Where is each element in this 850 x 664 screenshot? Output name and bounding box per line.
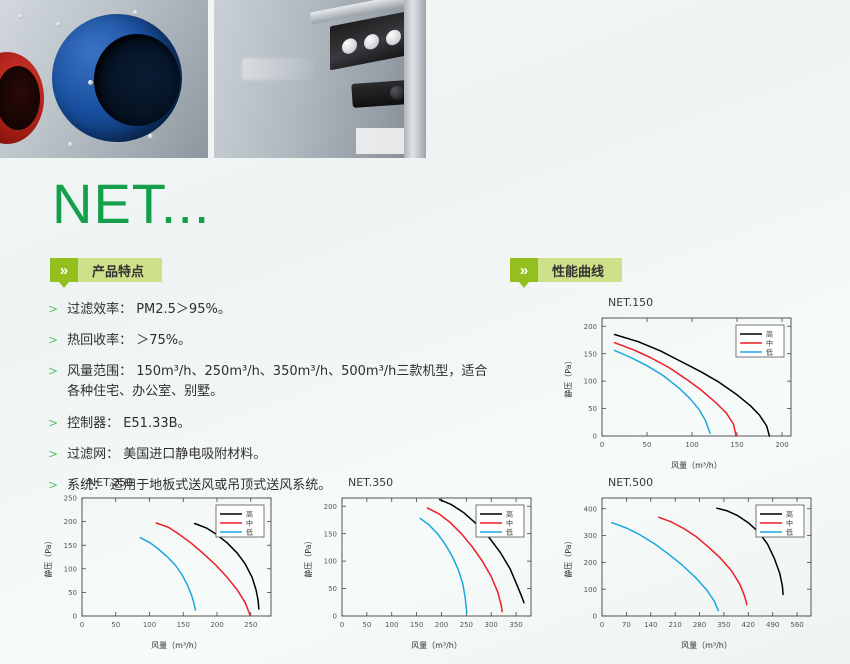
y-tick-label: 100 — [64, 565, 77, 573]
x-tick-label: 350 — [717, 621, 730, 629]
double-chevron-icon: » — [510, 258, 538, 282]
feature-item: >热回收率： ＞75%。 — [48, 331, 488, 351]
bullet-arrow-icon: > — [48, 331, 58, 350]
section-header-features-label: 产品特点 — [78, 258, 162, 282]
feature-item-text: 过滤效率： PM2.5＞95%。 — [67, 300, 231, 320]
y-tick-label: 150 — [64, 542, 77, 550]
x-tick-label: 210 — [668, 621, 681, 629]
x-tick-label: 150 — [410, 621, 423, 629]
y-tick-label: 100 — [324, 558, 337, 566]
y-tick-label: 300 — [584, 532, 597, 540]
x-axis-label: 风量（m³/h） — [151, 641, 202, 650]
chart-net-250: NET.250050100150200250050100150200250风量（… — [40, 472, 285, 652]
y-tick-label: 50 — [68, 589, 77, 597]
x-tick-label: 560 — [790, 621, 803, 629]
section-header-curves: » 性能曲线 — [510, 258, 622, 282]
section-header-curves-label: 性能曲线 — [538, 258, 622, 282]
x-tick-label: 100 — [685, 441, 698, 449]
chart-title: NET.250 — [88, 476, 133, 489]
feature-item: >过滤网： 美国进口静电吸附材料。 — [48, 445, 488, 465]
chart-net-150: NET.150050100150200050100150200风量（m³/h）静… — [560, 292, 805, 472]
y-axis-label: 静压（Pa） — [563, 536, 573, 577]
y-tick-label: 200 — [584, 323, 597, 331]
y-tick-label: 0 — [593, 613, 597, 621]
feature-item: >控制器： E51.33B。 — [48, 414, 488, 434]
y-axis-label: 静压（Pa） — [303, 536, 313, 577]
legend-label: 中 — [766, 339, 773, 348]
y-axis-label: 静压（Pa） — [43, 536, 53, 577]
legend-label: 中 — [246, 519, 253, 528]
x-axis-label: 风量（m³/h） — [681, 641, 732, 650]
x-tick-label: 0 — [600, 621, 604, 629]
legend-label: 低 — [246, 528, 253, 537]
bullet-arrow-icon: > — [48, 445, 58, 464]
x-tick-label: 50 — [643, 441, 652, 449]
y-tick-label: 100 — [584, 586, 597, 594]
chart-title: NET.500 — [608, 476, 653, 489]
y-tick-label: 400 — [584, 505, 597, 513]
y-axis-label: 静压（Pa） — [563, 356, 573, 397]
x-tick-label: 50 — [111, 621, 120, 629]
chart-title: NET.150 — [608, 296, 653, 309]
bullet-arrow-icon: > — [48, 300, 58, 319]
section-header-features: » 产品特点 — [50, 258, 162, 282]
page-title: NET... — [52, 176, 210, 232]
x-tick-label: 70 — [622, 621, 631, 629]
y-tick-label: 250 — [64, 495, 77, 503]
bullet-arrow-icon: > — [48, 362, 58, 381]
x-tick-label: 420 — [742, 621, 755, 629]
y-tick-label: 50 — [588, 405, 597, 413]
x-tick-label: 100 — [143, 621, 156, 629]
x-tick-label: 200 — [210, 621, 223, 629]
legend-label: 低 — [506, 528, 513, 537]
control-panel-photo — [214, 0, 426, 158]
y-tick-label: 200 — [584, 559, 597, 567]
y-tick-label: 150 — [584, 350, 597, 358]
x-tick-label: 150 — [730, 441, 743, 449]
y-tick-label: 150 — [324, 530, 337, 538]
series-line-low — [612, 523, 719, 611]
x-tick-label: 200 — [775, 441, 788, 449]
series-line-low — [615, 350, 710, 433]
legend-label: 高 — [506, 510, 513, 519]
bullet-arrow-icon: > — [48, 414, 58, 433]
x-tick-label: 200 — [435, 621, 448, 629]
feature-item-text: 热回收率： ＞75%。 — [67, 331, 191, 351]
series-line-low — [140, 538, 195, 610]
duct-connections-photo — [0, 0, 208, 158]
legend-label: 高 — [246, 510, 253, 519]
y-tick-label: 200 — [64, 518, 77, 526]
legend-label: 中 — [506, 519, 513, 528]
feature-item-text: 过滤网： 美国进口静电吸附材料。 — [67, 445, 266, 465]
x-tick-label: 350 — [509, 621, 522, 629]
x-tick-label: 150 — [177, 621, 190, 629]
y-tick-label: 100 — [584, 378, 597, 386]
y-tick-label: 0 — [73, 613, 77, 621]
x-tick-label: 0 — [340, 621, 344, 629]
legend-label: 低 — [766, 348, 773, 357]
legend-label: 中 — [786, 519, 793, 528]
y-tick-label: 0 — [593, 433, 597, 441]
x-tick-label: 250 — [244, 621, 257, 629]
feature-item-text: 风量范围： 150m³/h、250m³/h、350m³/h、500m³/h三款机… — [67, 362, 488, 402]
series-line-mid — [659, 517, 747, 604]
y-tick-label: 200 — [324, 503, 337, 511]
x-axis-label: 风量（m³/h） — [671, 461, 722, 470]
x-tick-label: 100 — [385, 621, 398, 629]
chart-net-350: NET.350050100150200250300350050100150200… — [300, 472, 545, 652]
x-tick-label: 250 — [460, 621, 473, 629]
y-tick-label: 0 — [333, 613, 337, 621]
x-tick-label: 0 — [80, 621, 84, 629]
series-line-mid — [615, 343, 737, 436]
chart-net-500: NET.500070140210280350420490560010020030… — [560, 472, 825, 652]
legend-label: 低 — [786, 528, 793, 537]
legend-label: 高 — [786, 510, 793, 519]
double-chevron-icon: » — [50, 258, 78, 282]
product-photo-strip — [0, 0, 426, 158]
y-tick-label: 50 — [328, 585, 337, 593]
x-tick-label: 0 — [600, 441, 604, 449]
feature-item: >风量范围： 150m³/h、250m³/h、350m³/h、500m³/h三款… — [48, 362, 488, 402]
x-tick-label: 490 — [766, 621, 779, 629]
feature-item: >过滤效率： PM2.5＞95%。 — [48, 300, 488, 320]
x-tick-label: 140 — [644, 621, 657, 629]
x-tick-label: 50 — [362, 621, 371, 629]
legend-label: 高 — [766, 330, 773, 339]
chart-title: NET.350 — [348, 476, 393, 489]
x-tick-label: 300 — [485, 621, 498, 629]
feature-item-text: 控制器： E51.33B。 — [67, 414, 190, 434]
x-axis-label: 风量（m³/h） — [411, 641, 462, 650]
x-tick-label: 280 — [693, 621, 706, 629]
